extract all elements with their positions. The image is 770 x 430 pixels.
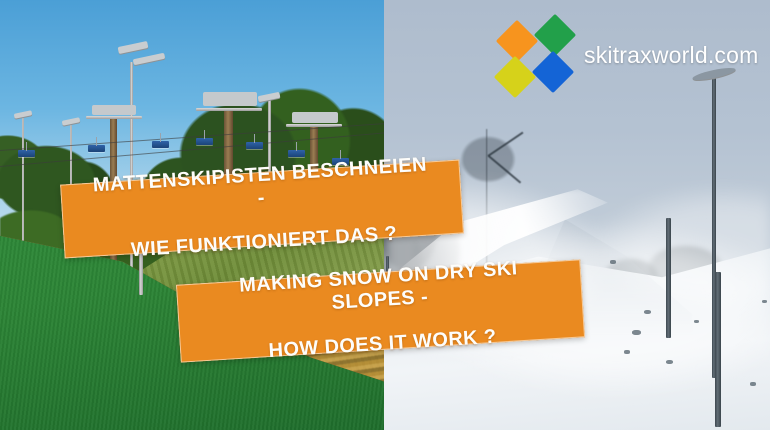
chairlift-hanger <box>160 133 161 142</box>
chairlift-hanger <box>204 130 205 139</box>
diamond-orange-icon <box>496 20 538 62</box>
brand-watermark: skitraxworld.com <box>500 20 758 90</box>
snow-debris <box>666 360 673 364</box>
headline-banner-german: MATTENSKIPISTEN BESCHNEIEN - WIE FUNKTIO… <box>60 160 464 259</box>
snow-debris <box>762 300 767 303</box>
image-canvas: skitraxworld.com MATTENSKIPISTEN BESCHNE… <box>0 0 770 430</box>
watermark-text: skitraxworld.com <box>584 42 758 69</box>
snow-debris <box>610 260 616 264</box>
chairlift-hanger <box>96 137 97 146</box>
skitraxworld-diamond-logo <box>500 20 572 90</box>
chairlift-chair <box>88 145 105 152</box>
chairlift-hanger <box>26 142 27 151</box>
snow-debris <box>694 320 699 323</box>
lift-tower-head-1 <box>92 105 136 115</box>
snow-debris <box>644 310 651 314</box>
snow-slope-pole-2 <box>715 272 721 427</box>
chairlift-hanger <box>254 134 255 143</box>
lift-tower-head-3 <box>292 112 338 123</box>
chairlift-chair <box>152 141 169 148</box>
chairlift-chair <box>246 142 263 149</box>
snow-debris <box>632 330 641 335</box>
snow-debris <box>750 382 756 386</box>
lift-tower-crossarm-1 <box>86 116 142 119</box>
chairlift-hanger <box>340 150 341 159</box>
snow-slope-pole-1 <box>666 218 671 338</box>
lift-tower-crossarm-2 <box>196 108 262 111</box>
chairlift-chair <box>196 138 213 145</box>
diamond-blue-icon <box>532 51 574 93</box>
chairlift-chair <box>18 150 35 157</box>
diamond-green-icon <box>534 14 576 56</box>
chairlift-chair <box>288 150 305 157</box>
chairlift-hanger <box>296 142 297 151</box>
snow-debris <box>624 350 630 354</box>
lift-tower-head-2 <box>203 92 257 106</box>
